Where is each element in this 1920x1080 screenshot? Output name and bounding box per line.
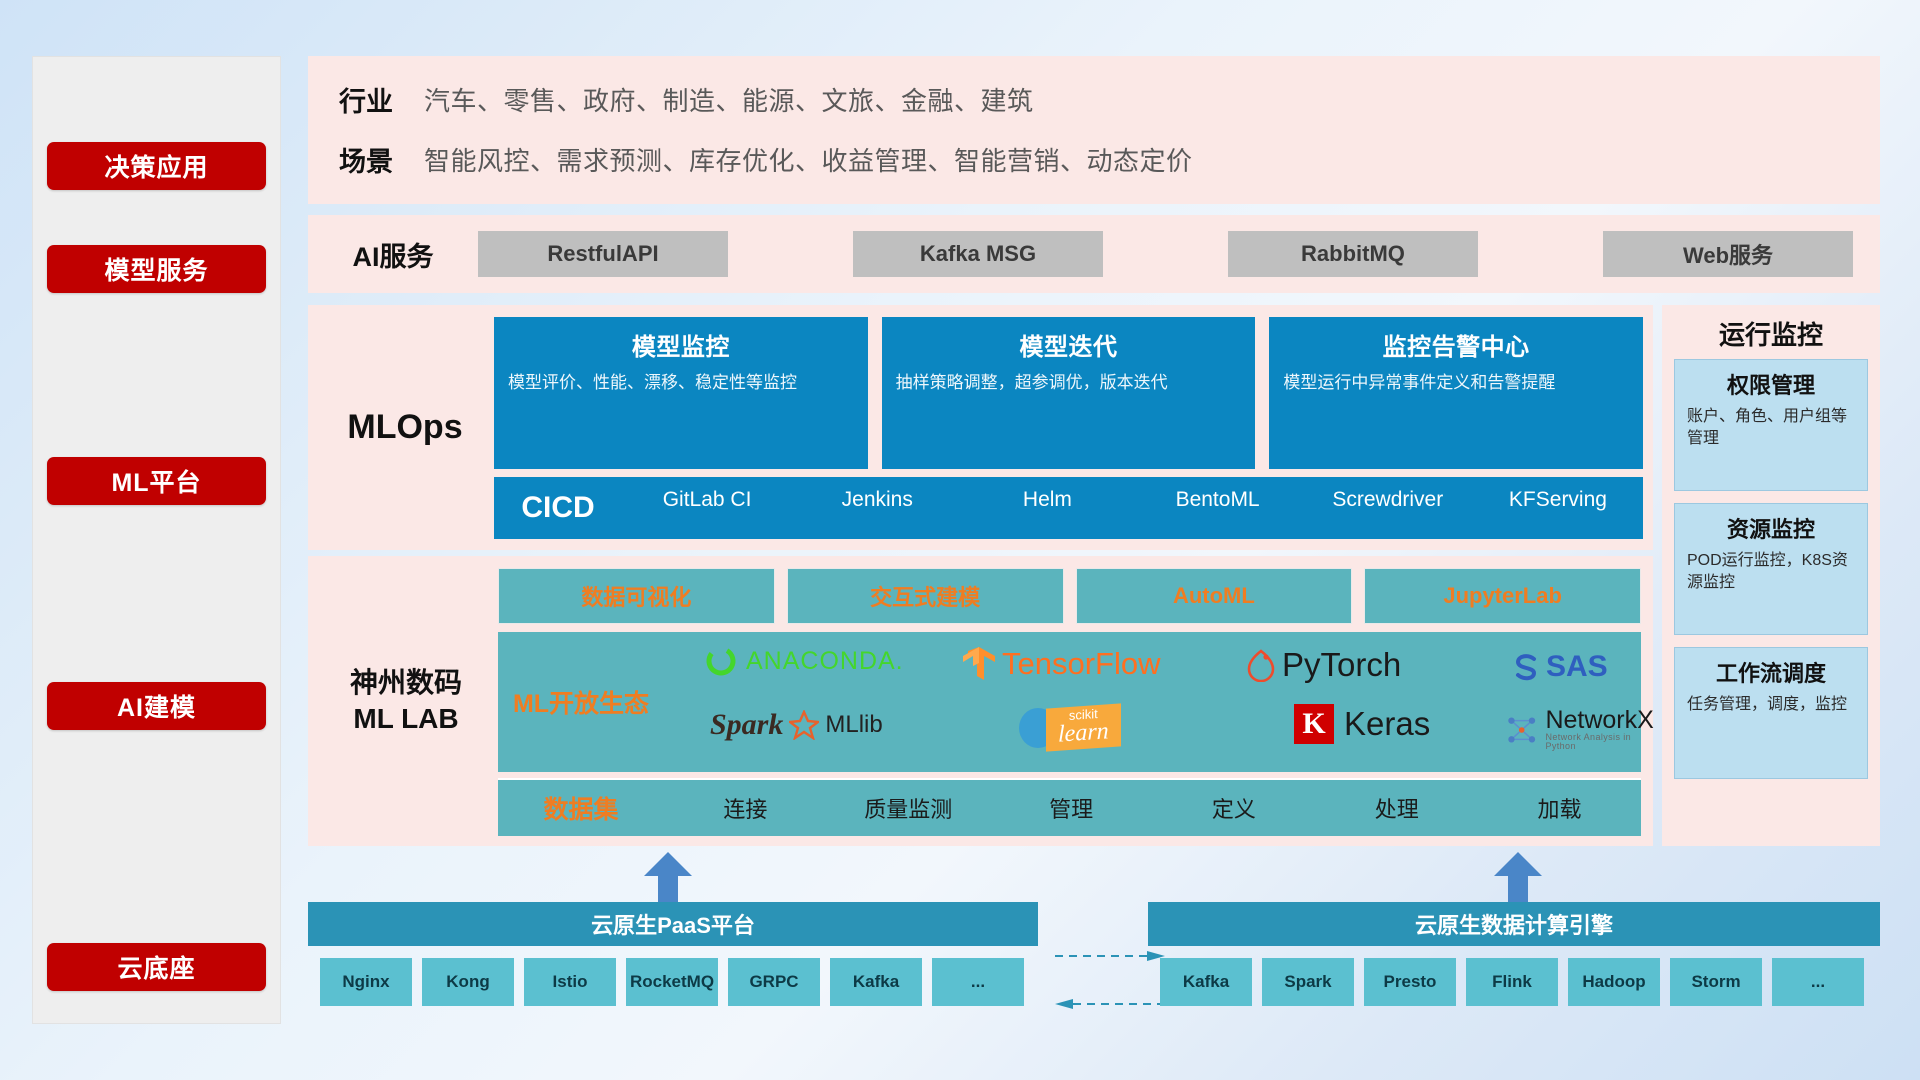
service-chip-kafka-msg[interactable]: Kafka MSG bbox=[853, 231, 1103, 277]
ai-service-chip-list: RestfulAPI Kafka MSG RabbitMQ Web服务 bbox=[478, 215, 1866, 293]
rail-item-ml-platform[interactable]: ML平台 bbox=[47, 457, 266, 505]
runtime-monitor-title: 运行监控 bbox=[1662, 315, 1880, 352]
ml-lab-tab-list: 数据可视化 交互式建模 AutoML JupyterLab bbox=[498, 568, 1641, 624]
industry-value: 汽车、零售、政府、制造、能源、文旅、金融、建筑 bbox=[424, 81, 1034, 118]
rail-item-model-service[interactable]: 模型服务 bbox=[47, 245, 266, 293]
monitor-card-desc: POD运行监控，K8S资源监控 bbox=[1687, 550, 1855, 595]
mlops-card-model-iteration[interactable]: 模型迭代 抽样策略调整，超参调优，版本迭代 bbox=[882, 317, 1256, 469]
cloud-chip-kafka[interactable]: Kafka bbox=[830, 958, 922, 1006]
diagram-canvas: 决策应用 模型服务 ML平台 AI建模 云底座 行业 汽车、零售、政府、制造、能… bbox=[0, 0, 1920, 1080]
monitor-card-resource[interactable]: 资源监控 POD运行监控，K8S资源监控 bbox=[1674, 503, 1868, 635]
rail-item-decision-app[interactable]: 决策应用 bbox=[47, 142, 266, 190]
mlops-label: MLOps bbox=[320, 305, 490, 550]
mlops-card-model-monitor[interactable]: 模型监控 模型评价、性能、漂移、稳定性等监控 bbox=[494, 317, 868, 469]
cloud-chip-istio[interactable]: Istio bbox=[524, 958, 616, 1006]
scikit-learn-logo: scikit learn bbox=[1016, 706, 1121, 749]
cloud-paas-chip-list: Nginx Kong Istio RocketMQ GRPC Kafka ... bbox=[320, 958, 1024, 1006]
tab-interactive-modeling[interactable]: 交互式建模 bbox=[787, 568, 1064, 624]
mlops-card-list: 模型监控 模型评价、性能、漂移、稳定性等监控 模型迭代 抽样策略调整，超参调优，… bbox=[494, 317, 1643, 469]
mllib-wordmark: MLlib bbox=[825, 711, 882, 739]
networkx-wordmark: NetworkX bbox=[1545, 708, 1656, 733]
monitor-card-desc: 账户、角色、用户组等管理 bbox=[1687, 406, 1855, 451]
arrow-up-right-icon bbox=[1490, 852, 1546, 902]
scenario-key: 场景 bbox=[308, 140, 424, 179]
ml-ecosystem-logos: ANACONDA. Spark MLlib TensorFlo bbox=[664, 632, 1641, 772]
arrow-left-dashed-icon bbox=[1055, 998, 1165, 1010]
dataset-item-process[interactable]: 处理 bbox=[1315, 792, 1478, 824]
mlops-card-title: 模型监控 bbox=[508, 327, 854, 362]
cloud-chip-kong[interactable]: Kong bbox=[422, 958, 514, 1006]
tensorflow-logo: TensorFlow bbox=[962, 646, 1161, 682]
ml-ecosystem-title: ML开放生态 bbox=[498, 684, 664, 720]
cloud-chip-nginx[interactable]: Nginx bbox=[320, 958, 412, 1006]
dataset-item-manage[interactable]: 管理 bbox=[990, 792, 1153, 824]
learn-word: learn bbox=[1058, 719, 1109, 747]
anaconda-icon bbox=[704, 644, 738, 678]
cloud-chip-storm[interactable]: Storm bbox=[1670, 958, 1762, 1006]
anaconda-wordmark: ANACONDA. bbox=[746, 647, 904, 676]
industry-key: 行业 bbox=[308, 80, 424, 119]
mlops-card-desc: 抽样策略调整，超参调优，版本迭代 bbox=[896, 371, 1242, 396]
mlops-card-title: 监控告警中心 bbox=[1283, 327, 1629, 362]
industry-row: 行业 汽车、零售、政府、制造、能源、文旅、金融、建筑 bbox=[308, 80, 1880, 119]
spark-wordmark: Spark bbox=[710, 708, 783, 742]
tab-data-visualization[interactable]: 数据可视化 bbox=[498, 568, 775, 624]
networkx-logo: NetworkX Network Analysis in Python bbox=[1504, 708, 1656, 751]
runtime-monitor-band: 运行监控 权限管理 账户、角色、用户组等管理 资源监控 POD运行监控，K8S资… bbox=[1662, 305, 1880, 846]
cloud-chip-hadoop[interactable]: Hadoop bbox=[1568, 958, 1660, 1006]
spark-mllib-logo: Spark MLlib bbox=[710, 708, 883, 742]
cicd-bar: CICD GitLab CI Jenkins Helm BentoML Scre… bbox=[494, 477, 1643, 539]
dataset-item-list: 连接 质量监测 管理 定义 处理 加载 bbox=[664, 792, 1641, 824]
cloud-chip-spark[interactable]: Spark bbox=[1262, 958, 1354, 1006]
dataset-item-define[interactable]: 定义 bbox=[1152, 792, 1315, 824]
mlops-card-title: 模型迭代 bbox=[896, 327, 1242, 362]
cicd-item-jenkins[interactable]: Jenkins bbox=[792, 487, 962, 513]
cicd-item-list: GitLab CI Jenkins Helm BentoML Screwdriv… bbox=[622, 477, 1643, 539]
sas-wordmark: SAS bbox=[1546, 650, 1608, 684]
ml-lab-label-line2: ML LAB bbox=[353, 701, 458, 737]
rail-item-ai-modeling[interactable]: AI建模 bbox=[47, 682, 266, 730]
service-chip-rabbitmq[interactable]: RabbitMQ bbox=[1228, 231, 1478, 277]
pytorch-wordmark: PyTorch bbox=[1282, 646, 1401, 684]
ml-ecosystem-panel: ML开放生态 ANACONDA. Spark MLlib bbox=[498, 632, 1641, 772]
cicd-item-kfserving[interactable]: KFServing bbox=[1473, 487, 1643, 513]
mlops-card-desc: 模型运行中异常事件定义和告警提醒 bbox=[1283, 371, 1629, 396]
networkx-icon bbox=[1504, 712, 1539, 748]
stack-layer-rail: 决策应用 模型服务 ML平台 AI建模 云底座 bbox=[32, 56, 281, 1024]
tensorflow-wordmark: TensorFlow bbox=[1002, 646, 1161, 682]
service-chip-web[interactable]: Web服务 bbox=[1603, 231, 1853, 277]
cloud-chip-grpc[interactable]: GRPC bbox=[728, 958, 820, 1006]
anaconda-logo: ANACONDA. bbox=[704, 644, 904, 678]
networkx-tagline: Network Analysis in Python bbox=[1545, 733, 1656, 751]
mlops-card-desc: 模型评价、性能、漂移、稳定性等监控 bbox=[508, 371, 854, 396]
monitor-card-permission[interactable]: 权限管理 账户、角色、用户组等管理 bbox=[1674, 359, 1868, 491]
monitor-card-title: 权限管理 bbox=[1687, 368, 1855, 400]
cloud-engine-bar[interactable]: 云原生数据计算引擎 bbox=[1148, 902, 1880, 946]
ml-lab-label-line1: 神州数码 bbox=[350, 665, 462, 701]
cloud-chip-more[interactable]: ... bbox=[932, 958, 1024, 1006]
dataset-item-connect[interactable]: 连接 bbox=[664, 792, 827, 824]
cloud-chip-rocketmq[interactable]: RocketMQ bbox=[626, 958, 718, 1006]
monitor-card-desc: 任务管理，调度，监控 bbox=[1687, 694, 1855, 716]
cloud-chip-flink[interactable]: Flink bbox=[1466, 958, 1558, 1006]
cloud-chip-more[interactable]: ... bbox=[1772, 958, 1864, 1006]
cloud-chip-kafka[interactable]: Kafka bbox=[1160, 958, 1252, 1006]
rail-item-cloud-base[interactable]: 云底座 bbox=[47, 943, 266, 991]
keras-wordmark: Keras bbox=[1344, 705, 1430, 743]
ml-lab-band: 神州数码 ML LAB 数据可视化 交互式建模 AutoML JupyterLa… bbox=[308, 556, 1653, 846]
arrow-up-left-icon bbox=[640, 852, 696, 902]
monitor-card-workflow[interactable]: 工作流调度 任务管理，调度，监控 bbox=[1674, 647, 1868, 779]
dataset-row: 数据集 连接 质量监测 管理 定义 处理 加载 bbox=[498, 778, 1641, 836]
sas-logo: SAS bbox=[1510, 650, 1608, 684]
cicd-item-screwdriver[interactable]: Screwdriver bbox=[1303, 487, 1473, 513]
tab-automl[interactable]: AutoML bbox=[1076, 568, 1353, 624]
tensorflow-icon bbox=[962, 646, 996, 682]
cicd-item-gitlab-ci[interactable]: GitLab CI bbox=[622, 487, 792, 513]
cicd-title: CICD bbox=[494, 491, 622, 525]
keras-icon: K bbox=[1294, 704, 1334, 744]
scenario-value: 智能风控、需求预测、库存优化、收益管理、智能营销、动态定价 bbox=[424, 141, 1193, 178]
ml-lab-label: 神州数码 ML LAB bbox=[318, 556, 494, 846]
arrow-right-dashed-icon bbox=[1055, 950, 1165, 962]
mlops-card-alert-center[interactable]: 监控告警中心 模型运行中异常事件定义和告警提醒 bbox=[1269, 317, 1643, 469]
ai-service-band: AI服务 RestfulAPI Kafka MSG RabbitMQ Web服务 bbox=[308, 215, 1880, 293]
sas-icon bbox=[1510, 651, 1542, 683]
ai-service-label: AI服务 bbox=[330, 215, 456, 293]
scenario-row: 场景 智能风控、需求预测、库存优化、收益管理、智能营销、动态定价 bbox=[308, 140, 1880, 179]
service-chip-restfulapi[interactable]: RestfulAPI bbox=[478, 231, 728, 277]
cloud-chip-presto[interactable]: Presto bbox=[1364, 958, 1456, 1006]
dataset-title: 数据集 bbox=[498, 790, 664, 826]
monitor-card-title: 工作流调度 bbox=[1687, 656, 1855, 688]
cloud-engine-chip-list: Kafka Spark Presto Flink Hadoop Storm ..… bbox=[1160, 958, 1864, 1006]
pytorch-logo: PyTorch bbox=[1246, 646, 1401, 684]
dataset-item-quality[interactable]: 质量监测 bbox=[827, 792, 990, 824]
keras-logo: K Keras bbox=[1294, 704, 1430, 744]
tab-jupyterlab[interactable]: JupyterLab bbox=[1364, 568, 1641, 624]
cicd-item-helm[interactable]: Helm bbox=[962, 487, 1132, 513]
cloud-paas-bar[interactable]: 云原生PaaS平台 bbox=[308, 902, 1038, 946]
cicd-item-bentoml[interactable]: BentoML bbox=[1133, 487, 1303, 513]
dataset-item-load[interactable]: 加载 bbox=[1478, 792, 1641, 824]
spark-star-icon bbox=[789, 710, 819, 740]
mlops-band: MLOps 模型监控 模型评价、性能、漂移、稳定性等监控 模型迭代 抽样策略调整… bbox=[308, 305, 1653, 550]
pytorch-icon bbox=[1246, 648, 1276, 682]
decision-app-band: 行业 汽车、零售、政府、制造、能源、文旅、金融、建筑 场景 智能风控、需求预测、… bbox=[308, 56, 1880, 204]
monitor-card-title: 资源监控 bbox=[1687, 512, 1855, 544]
scikit-orange-badge: scikit learn bbox=[1046, 703, 1121, 751]
